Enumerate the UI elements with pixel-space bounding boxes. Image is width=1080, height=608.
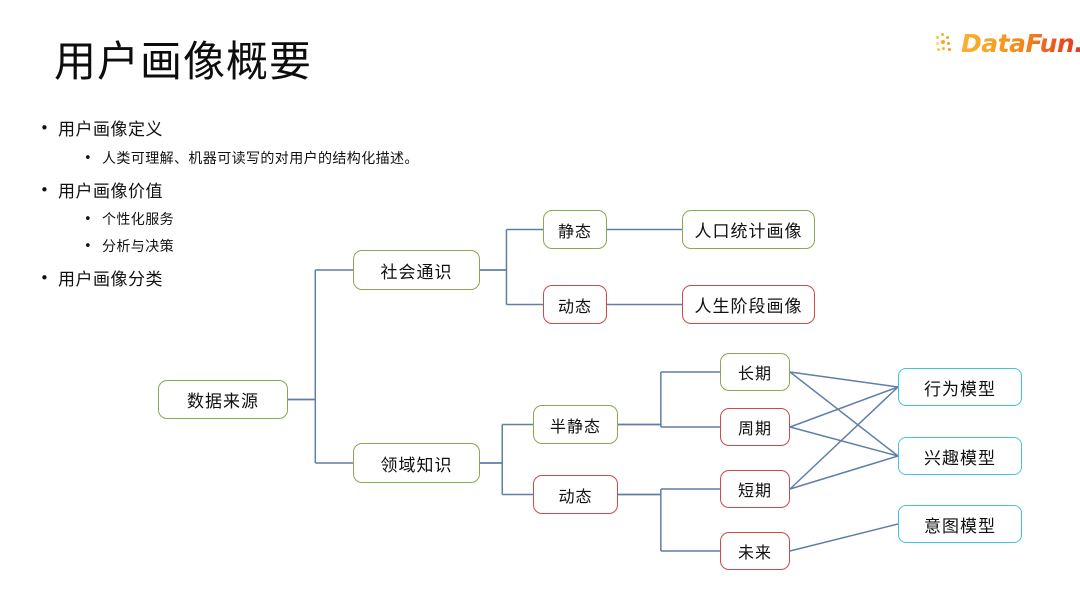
slide-canvas: DataFun. 用户画像概要 • 用户画像定义 • 人类可理解、机器可读写的对… [0,0,1080,608]
diagram-node-label: 数据来源 [187,387,259,412]
diagram-edge-semistatic-to-cyclic [618,425,720,428]
diagram-edge-domain-to-dynamic2 [480,463,533,495]
diagram-edge-domain-to-semistatic [480,425,533,464]
diagram-node-label: 行为模型 [924,375,996,400]
diagram-node-dynamic2[interactable]: 动态 [533,475,618,514]
diagram-node-interest[interactable]: 兴趣模型 [898,437,1022,475]
diagram-edge-social-to-static [480,230,543,271]
diagram-node-dynamic1[interactable]: 动态 [543,285,607,324]
diagram-edge-semistatic-to-longterm [618,372,720,425]
diagram-node-domain[interactable]: 领域知识 [353,443,480,483]
diagram-node-social[interactable]: 社会通识 [353,250,480,290]
diagram-node-label: 人生阶段画像 [695,292,803,317]
diagram-node-label: 未来 [738,539,772,563]
diagram-edge-social-to-dynamic1 [480,270,543,305]
diagram-node-label: 动态 [558,293,592,317]
diagram-node-intent[interactable]: 意图模型 [898,505,1022,543]
diagram-node-label: 短期 [738,477,772,501]
diagram-edge-dynamic2-to-shortterm [618,489,720,495]
diagram-node-source[interactable]: 数据来源 [158,380,288,419]
diagram-edge-shortterm-to-behavior [790,387,898,489]
diagram-node-demographic[interactable]: 人口统计画像 [682,210,815,249]
classification-diagram: 数据来源社会通识领域知识静态动态人口统计画像人生阶段画像半静态动态长期周期短期未… [0,0,1080,608]
diagram-edge-cyclic-to-interest [790,427,898,456]
diagram-node-behavior[interactable]: 行为模型 [898,368,1022,406]
diagram-edge-shortterm-to-interest [790,456,898,489]
diagram-node-longterm[interactable]: 长期 [720,353,790,391]
diagram-node-label: 意图模型 [924,512,996,537]
diagram-node-label: 长期 [738,360,772,384]
diagram-edge-source-to-social [288,270,353,400]
diagram-edge-dynamic2-to-future [618,495,720,552]
diagram-node-lifestage[interactable]: 人生阶段画像 [682,285,815,324]
diagram-node-future[interactable]: 未来 [720,532,790,570]
diagram-node-label: 静态 [558,218,592,242]
diagram-edge-source-to-domain [288,400,353,464]
diagram-node-label: 半静态 [550,413,601,437]
diagram-node-shortterm[interactable]: 短期 [720,470,790,508]
diagram-node-label: 领域知识 [381,451,453,476]
diagram-edge-cyclic-to-behavior [790,387,898,427]
diagram-node-semistatic[interactable]: 半静态 [533,405,618,444]
diagram-node-cyclic[interactable]: 周期 [720,408,790,446]
diagram-node-label: 周期 [738,415,772,439]
diagram-node-static[interactable]: 静态 [543,210,607,249]
diagram-node-label: 社会通识 [381,258,453,283]
diagram-edge-future-to-intent [790,524,898,551]
diagram-node-label: 兴趣模型 [924,444,996,469]
diagram-node-label: 动态 [558,483,592,507]
diagram-node-label: 人口统计画像 [695,217,803,242]
